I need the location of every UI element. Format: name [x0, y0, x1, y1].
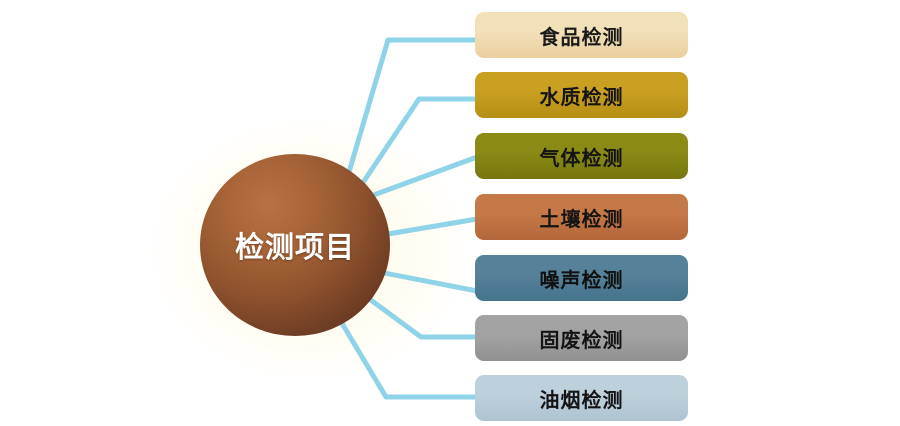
node-label-gas: 气体检测 [540, 142, 624, 171]
node-label-food: 食品检测 [540, 21, 624, 50]
node-label-solid-waste: 固废检测 [540, 324, 624, 353]
connector-line-6 [340, 320, 477, 397]
connector-layer [0, 0, 900, 426]
connector-line-3 [382, 219, 477, 235]
node-label-soil: 土壤检测 [540, 203, 624, 232]
connector-line-2 [371, 157, 477, 196]
node-box-solid-waste[interactable]: 固废检测 [475, 315, 688, 361]
node-label-water: 水质检测 [540, 81, 624, 110]
connector-line-5 [364, 295, 477, 337]
node-box-soil[interactable]: 土壤检测 [475, 194, 688, 240]
connector-line-4 [379, 272, 477, 291]
node-box-noise[interactable]: 噪声检测 [475, 255, 688, 301]
hub-sphere[interactable]: 检测项目 [200, 154, 390, 336]
node-box-gas[interactable]: 气体检测 [475, 133, 688, 179]
diagram-canvas: 检测项目 食品检测 水质检测 气体检测 土壤检测 噪声检测 固废检测 油烟检测 [0, 0, 900, 426]
node-label-fume: 油烟检测 [540, 384, 624, 413]
node-label-noise: 噪声检测 [540, 264, 624, 293]
node-box-food[interactable]: 食品检测 [475, 12, 688, 58]
node-box-fume[interactable]: 油烟检测 [475, 375, 688, 421]
hub-label: 检测项目 [235, 224, 355, 266]
node-box-water[interactable]: 水质检测 [475, 72, 688, 118]
